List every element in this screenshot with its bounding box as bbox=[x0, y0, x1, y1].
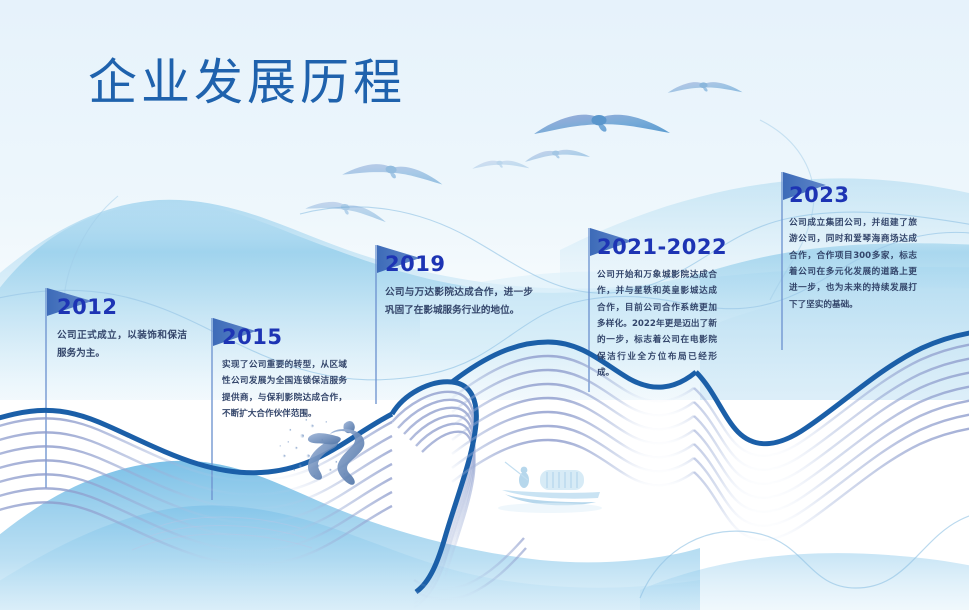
ribbon-right-edge bbox=[696, 330, 969, 444]
milestone-description: 实现了公司重要的转型，从区域性公司发展为全国连锁保洁服务提供商，与保利影院达成合… bbox=[222, 357, 347, 422]
milestone-year: 2012 bbox=[57, 295, 187, 319]
milestone-description: 公司与万达影院达成合作，进一步巩固了在影城服务行业的地位。 bbox=[385, 284, 533, 319]
milestone-description: 公司成立集团公司，并组建了旅游公司，同时和爱琴海商场达成合作，合作项目300多家… bbox=[789, 215, 917, 313]
bird-large-center bbox=[534, 115, 670, 134]
milestone-2015[interactable]: 2015 实现了公司重要的转型，从区域性公司发展为全国连锁保洁服务提供商，与保利… bbox=[222, 325, 347, 422]
milestone-year: 2021-2022 bbox=[597, 235, 717, 259]
fisherman-boat bbox=[498, 462, 602, 513]
page-title: 企业发展历程 bbox=[88, 58, 406, 107]
infographic-canvas: 企业发展历程 2012 公司正式成立，以装饰和保洁服务为主。 2015 实现了公… bbox=[0, 0, 969, 610]
bird-far-left bbox=[472, 161, 529, 169]
runner-particles bbox=[279, 419, 345, 477]
bird-small-upper-right bbox=[668, 82, 743, 93]
milestone-2012[interactable]: 2012 公司正式成立，以装饰和保洁服务为主。 bbox=[57, 295, 187, 362]
ribbon-left-body bbox=[0, 418, 392, 564]
running-figure bbox=[308, 421, 364, 485]
bird-mid-left bbox=[342, 160, 444, 185]
ribbon-fold-left bbox=[392, 392, 474, 608]
ribbon-fold-tail bbox=[414, 538, 526, 599]
milestone-year: 2015 bbox=[222, 325, 347, 349]
milestone-description: 公司开始和万象城影院达成合作，并与星轶和英皇影城达成合作，目前公司合作系统更加多… bbox=[597, 267, 717, 381]
milestone-description: 公司正式成立，以装饰和保洁服务为主。 bbox=[57, 327, 187, 362]
milestone-2023[interactable]: 2023 公司成立集团公司，并组建了旅游公司，同时和爱琴海商场达成合作，合作项目… bbox=[789, 183, 917, 313]
bird-lower-left bbox=[305, 197, 387, 223]
milestone-year: 2023 bbox=[789, 183, 917, 207]
milestone-year: 2019 bbox=[385, 252, 533, 276]
ribbon-fold-edge-left bbox=[392, 382, 476, 592]
milestone-2021-2022[interactable]: 2021-2022 公司开始和万象城影院达成合作，并与星轶和英皇影城达成合作，目… bbox=[597, 235, 717, 381]
bird-small-upper-left bbox=[524, 148, 590, 162]
ribbon-right-body bbox=[694, 342, 969, 540]
milestone-2019[interactable]: 2019 公司与万达影院达成合作，进一步巩固了在影城服务行业的地位。 bbox=[385, 252, 533, 319]
